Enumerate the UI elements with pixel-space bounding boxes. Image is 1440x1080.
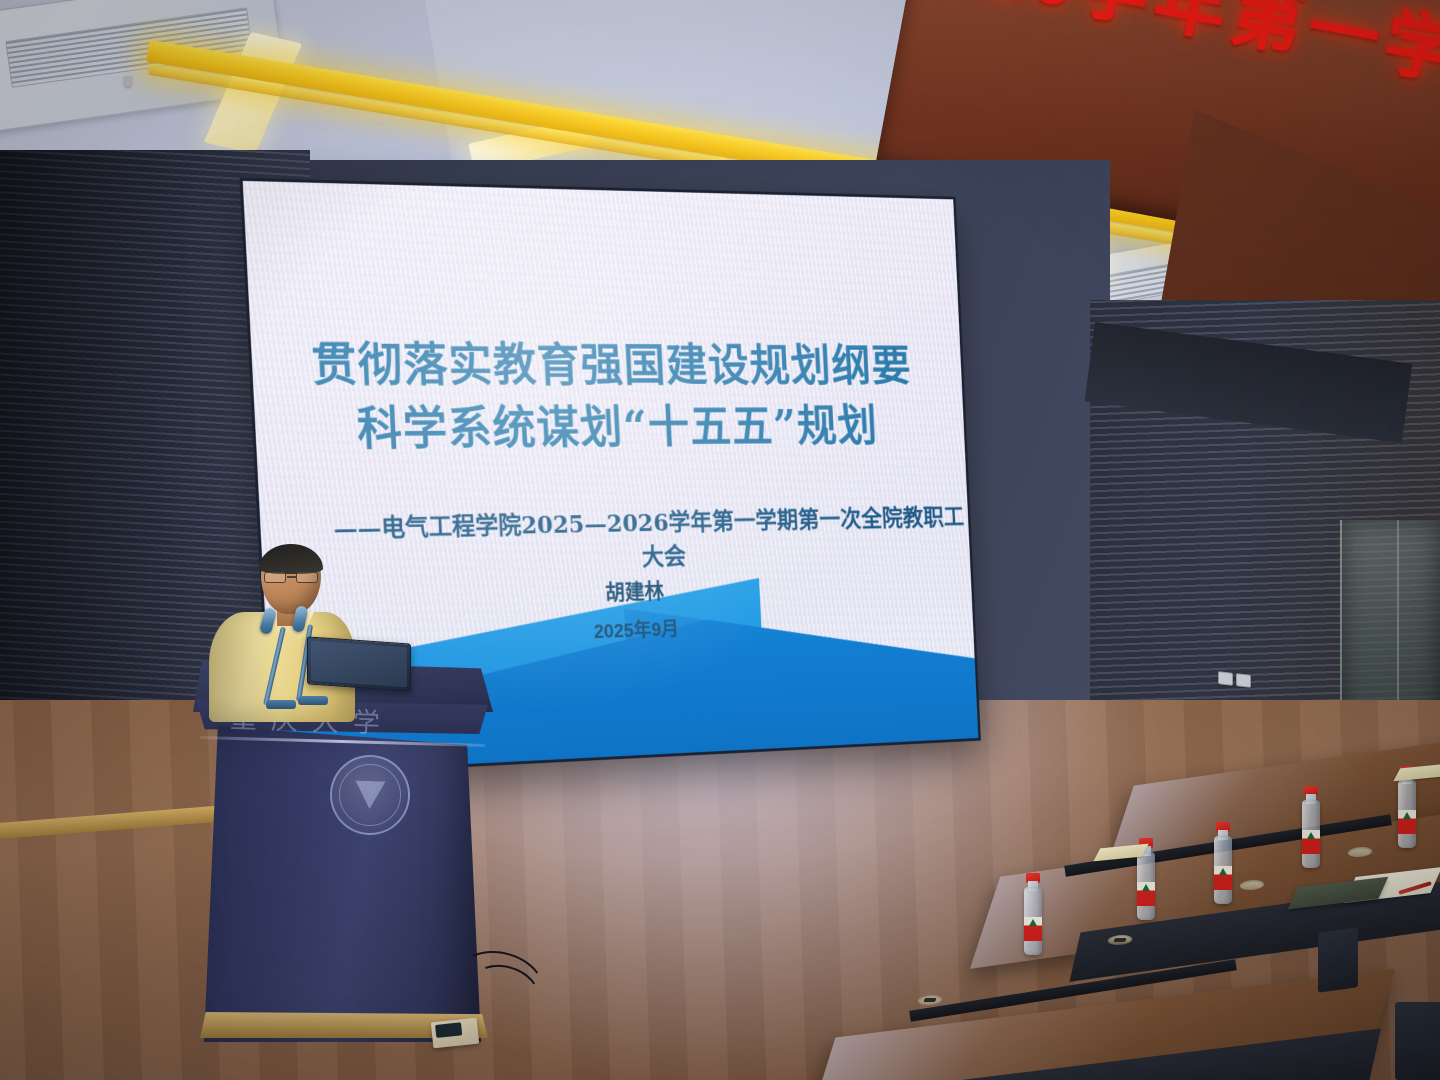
power-outlet-icon[interactable] [1218, 671, 1233, 686]
chair[interactable] [1395, 1002, 1440, 1080]
slide-title-line1: 贯彻落实教育强国建设规划纲要 [310, 337, 912, 392]
laptop-icon[interactable] [307, 636, 411, 691]
water-bottle[interactable] [1300, 786, 1322, 868]
sprinkler-icon [124, 76, 132, 87]
water-bottle[interactable] [1212, 822, 1234, 904]
floor-power-box[interactable] [431, 1018, 479, 1049]
slide-title: 贯彻落实教育强国建设规划纲要 科学系统谋划“十五五”规划 [250, 333, 965, 463]
chair[interactable] [1318, 927, 1358, 993]
glasses-icon [263, 572, 319, 583]
slide-title-line2: 科学系统谋划“十五五”规划 [254, 396, 965, 462]
laptop-screen [311, 641, 407, 688]
power-outlet-icon[interactable] [1236, 673, 1251, 688]
conference-room-photo: 026学年第一学期教职工大会 贯彻落实教育强国建设规划纲要 科学系统谋划“十五五… [0, 0, 1440, 1080]
water-bottle[interactable] [1022, 873, 1044, 955]
